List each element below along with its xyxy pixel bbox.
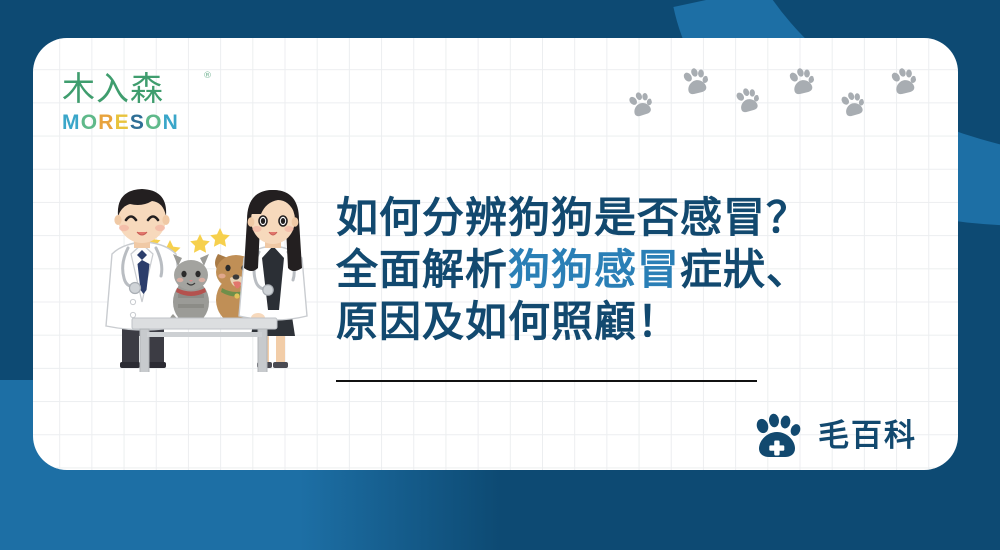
logo-letter-o2: O (145, 112, 163, 133)
brand-label: 毛百科 (818, 421, 917, 452)
logo-chinese-text: 木入森 (62, 69, 164, 108)
brand-footer: 毛百科 (752, 413, 917, 459)
title-line-2: 全面解析狗狗感冒症狀、 (336, 244, 896, 296)
logo-chinese-wordmark: 木入森® (62, 72, 202, 105)
page-title: 如何分辨狗狗是否感冒？ 全面解析狗狗感冒症狀、 原因及如何照顧！ (336, 192, 896, 348)
title-line-1: 如何分辨狗狗是否感冒？ (336, 192, 896, 244)
logo-letter-n: N (163, 112, 179, 133)
logo-letter-m: M (62, 112, 81, 133)
moreson-logo: 木入森® MORESON (62, 72, 202, 133)
title-line-2-prefix: 全面解析 (336, 245, 508, 294)
female-veterinarian (239, 190, 307, 368)
title-line-2-highlight: 狗狗感冒 (508, 245, 680, 294)
title-line-3: 原因及如何照顧！ (336, 296, 896, 348)
logo-letter-o1: O (81, 112, 99, 133)
veterinarian-illustration (92, 182, 314, 372)
registered-trademark-icon: ® (203, 72, 213, 81)
paw-plus-icon (752, 413, 802, 459)
logo-letter-r: R (98, 112, 114, 133)
title-divider (336, 380, 757, 382)
poster-canvas: 木入森® MORESON (0, 0, 1000, 550)
title-line-1-text: 如何分辨狗狗是否感冒？ (336, 193, 809, 242)
logo-letter-e: E (115, 112, 130, 133)
logo-letter-s: S (130, 112, 145, 133)
title-line-2-suffix: 症狀、 (680, 245, 809, 294)
logo-english-wordmark: MORESON (62, 112, 202, 133)
title-line-3-text: 原因及如何照顧！ (336, 297, 680, 346)
